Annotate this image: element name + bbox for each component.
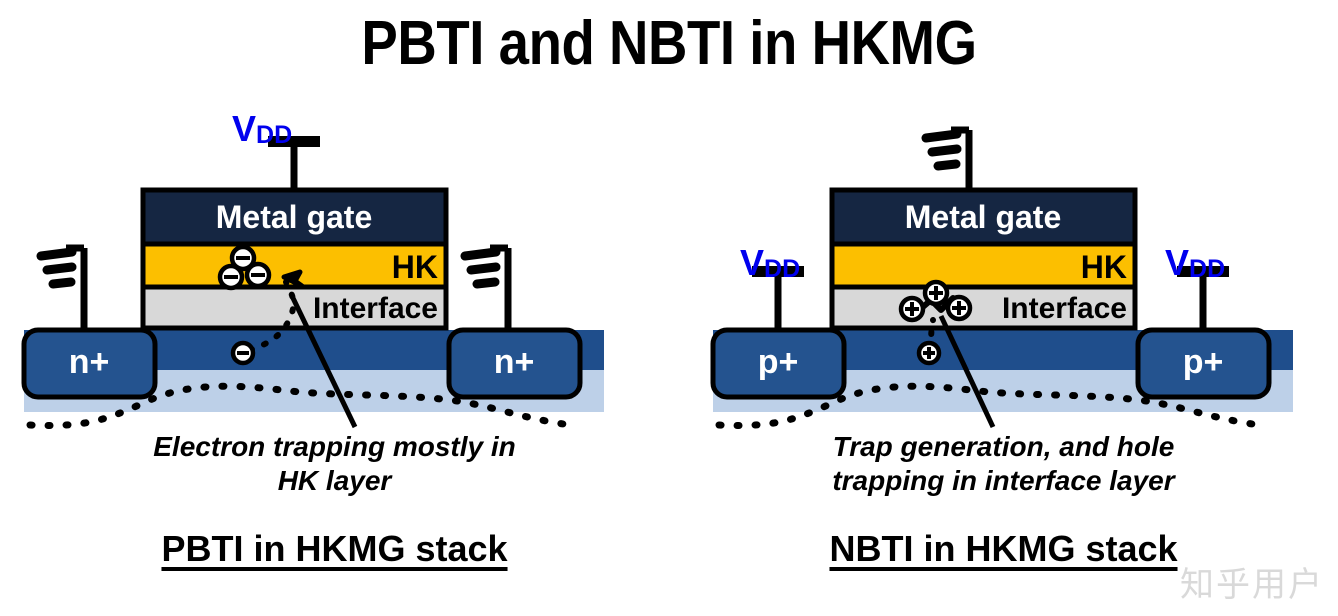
- stack-label-text: NBTI in HKMG stack: [829, 528, 1177, 569]
- vdd-label-drain-nbti: VDD: [1165, 242, 1225, 284]
- vdd-label-v: V: [740, 242, 764, 283]
- drain-label: p+: [1183, 343, 1224, 381]
- interface-layer-label: Interface: [1002, 292, 1127, 325]
- stack-label-text: PBTI in HKMG stack: [161, 528, 507, 569]
- watermark: 知乎用户: [1180, 557, 1324, 606]
- free-hole-symbol: [919, 343, 939, 363]
- free-electron-symbol: [233, 343, 253, 363]
- panel-pbti: n+ n+ Interface HK Metal gate: [0, 100, 669, 616]
- gate-ground-icon: [926, 130, 969, 192]
- source-label: n+: [69, 343, 110, 381]
- hk-layer-label: HK: [1081, 249, 1127, 285]
- source-ground-icon: [41, 248, 84, 332]
- caption-pbti: Electron trapping mostly in HK layer: [0, 430, 669, 498]
- stack-label-pbti: PBTI in HKMG stack: [0, 528, 669, 570]
- source-label: p+: [758, 343, 799, 381]
- panel-nbti: p+ p+ Interface HK Metal gate: [669, 100, 1338, 616]
- drain-ground-icon: [465, 248, 508, 332]
- caption-line: HK layer: [0, 464, 669, 498]
- electron-symbol: [247, 264, 269, 286]
- device-cross-section-pbti: n+ n+ Interface HK Metal gate: [0, 100, 669, 440]
- vdd-label-sub: DD: [764, 255, 800, 283]
- hole-symbol: [901, 298, 923, 320]
- caption-line: Trap generation, and hole: [669, 430, 1338, 464]
- vdd-label-v: V: [232, 108, 256, 149]
- vdd-label-gate-pbti: VDD: [232, 108, 292, 150]
- hole-symbol: [925, 282, 947, 304]
- vdd-label-sub: DD: [256, 121, 292, 149]
- electron-symbol: [220, 266, 242, 288]
- hole-symbol: [948, 297, 970, 319]
- caption-line: Electron trapping mostly in: [0, 430, 669, 464]
- hk-layer-label: HK: [392, 249, 438, 285]
- diagram-page: PBTI and NBTI in HKMG n+ n+ Interface HK: [0, 0, 1338, 616]
- drain-label: n+: [494, 343, 535, 381]
- vdd-label-source-nbti: VDD: [740, 242, 800, 284]
- vdd-label-sub: DD: [1189, 255, 1225, 283]
- caption-nbti: Trap generation, and hole trapping in in…: [669, 430, 1338, 498]
- page-title: PBTI and NBTI in HKMG: [80, 8, 1257, 79]
- metal-gate-label: Metal gate: [216, 199, 372, 235]
- caption-line: trapping in interface layer: [669, 464, 1338, 498]
- metal-gate-label: Metal gate: [905, 199, 1061, 235]
- interface-layer-label: Interface: [313, 292, 438, 325]
- vdd-label-v: V: [1165, 242, 1189, 283]
